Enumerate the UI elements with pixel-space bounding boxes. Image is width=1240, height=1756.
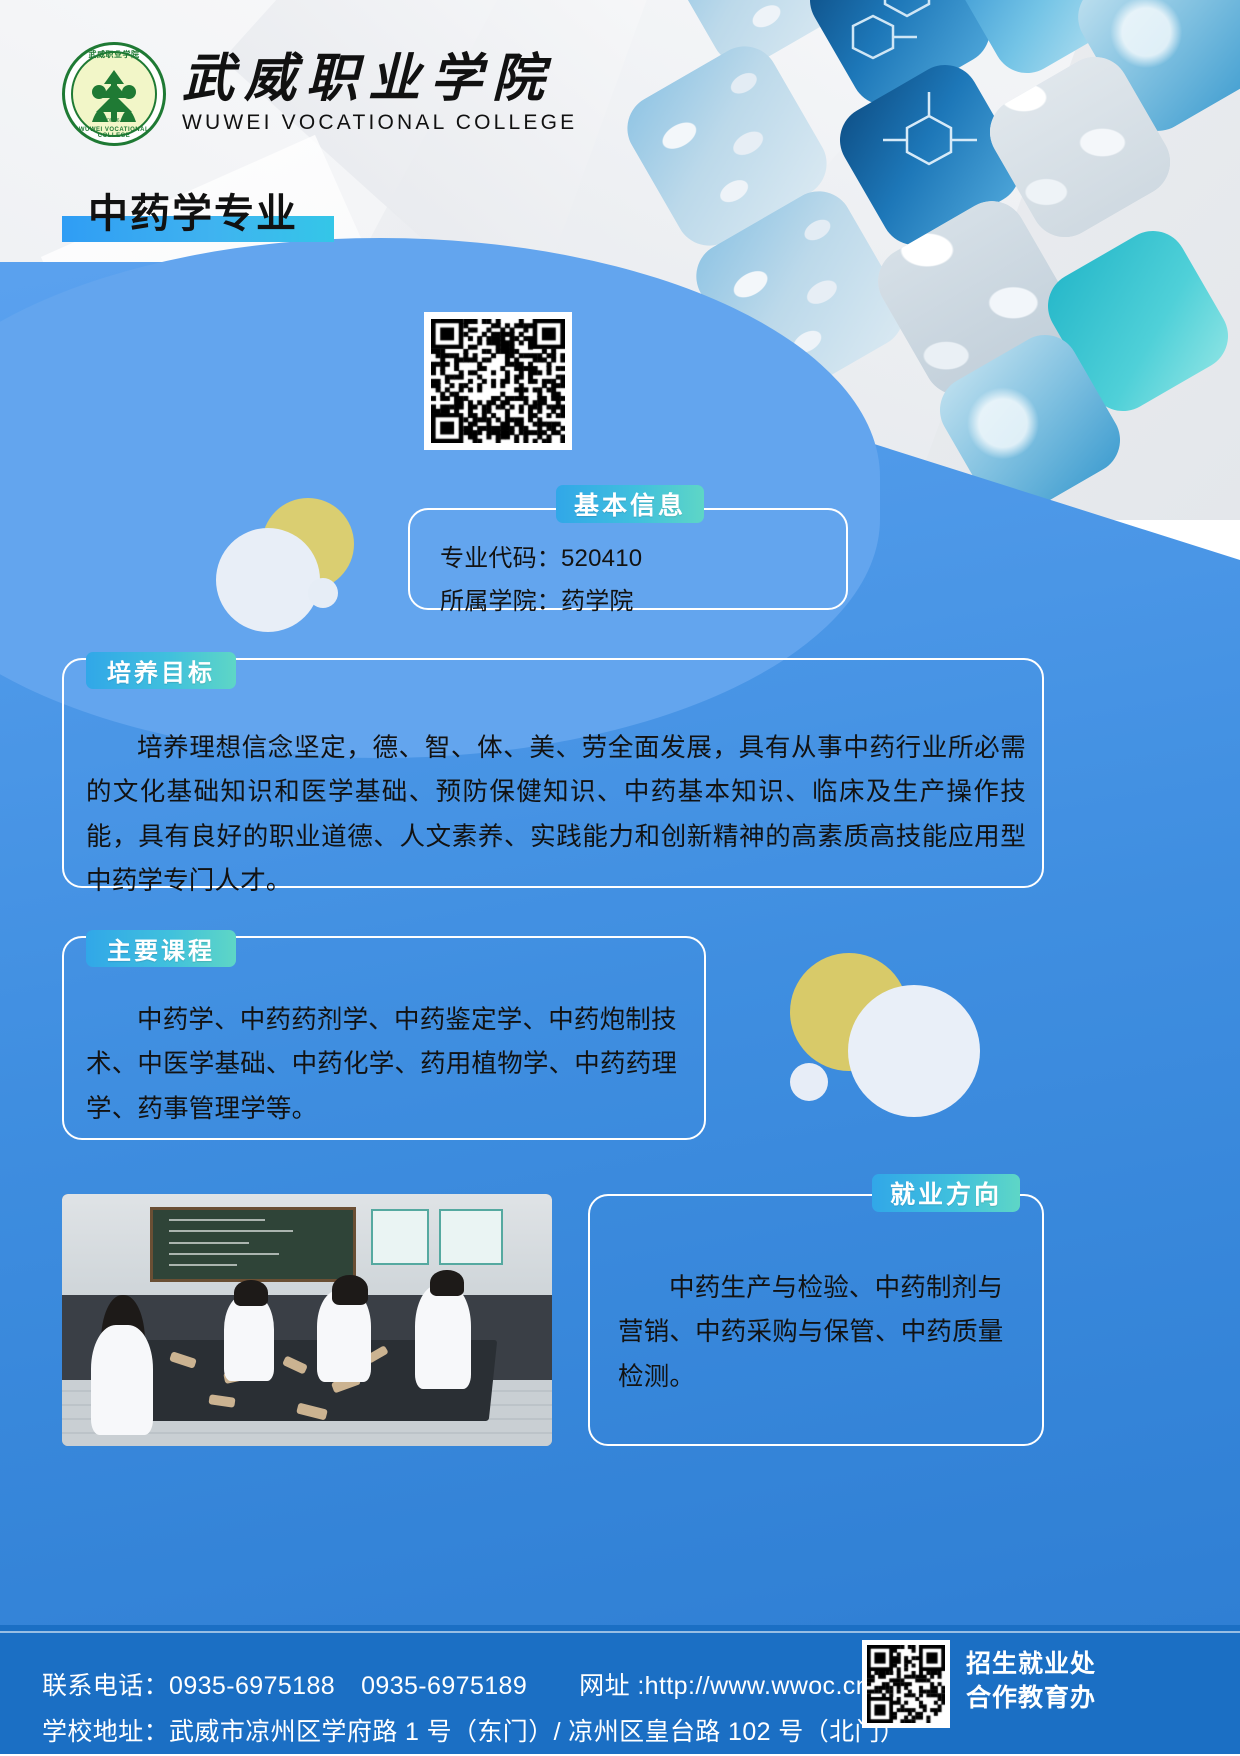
lab-classroom-photo <box>62 1194 552 1446</box>
footer-address-line: 学校地址：武威市凉州区学府路 1 号（东门）/ 凉州区皇台路 102 号（北门） <box>42 1709 905 1755</box>
crest-year: 2003.6.6 <box>62 118 166 124</box>
qr-code-icon-footer[interactable] <box>862 1640 950 1728</box>
basic-info-line-code: 专业代码：520410 <box>440 538 840 581</box>
footer-phone-1: 0935-6975188 <box>169 1672 335 1700</box>
crest-tree-glyph <box>86 62 142 126</box>
decor-circle-white-1b <box>308 578 338 608</box>
footer-contact-block: 联系电话：0935-69751880935-6975189网址 :http://… <box>42 1663 905 1756</box>
footer-divider <box>0 1631 1240 1633</box>
page-title: 中药学专业 <box>88 181 298 239</box>
training-goal-text: 培养理想信念坚定，德、智、体、美、劳全面发展，具有从事中药行业所必需的文化基础知… <box>86 726 1026 903</box>
employment-text: 中药生产与检验、中药制剂与营销、中药采购与保管、中药质量检测。 <box>618 1266 1018 1399</box>
footer-office-line-2: 合作教育办 <box>966 1682 1096 1716</box>
footer-office-block: 招生就业处 合作教育办 <box>966 1648 1096 1716</box>
training-goal-badge: 培养目标 <box>86 652 236 689</box>
footer-address-value: 武威市凉州区学府路 1 号（东门）/ 凉州区皇台路 102 号（北门） <box>169 1718 905 1746</box>
footer-office-line-1: 招生就业处 <box>966 1648 1096 1682</box>
basic-info-text: 专业代码：520410 所属学院：药学院 <box>440 538 840 623</box>
decor-circle-white-1 <box>216 528 320 632</box>
qr-code-icon-top[interactable] <box>424 312 572 450</box>
college-name-en: WUWEI VOCATIONAL COLLEGE <box>182 111 577 135</box>
footer-phone-line: 联系电话：0935-69751880935-6975189网址 :http://… <box>42 1663 905 1709</box>
footer-phone-label: 联系电话： <box>42 1672 169 1700</box>
main-courses-badge: 主要课程 <box>86 930 236 967</box>
footer-website-url[interactable]: http://www.wwoc.cn <box>645 1672 870 1700</box>
main-courses-text: 中药学、中药药剂学、中药鉴定学、中药炮制技术、中医学基础、中药化学、药用植物学、… <box>86 998 690 1131</box>
decor-circle-white-2 <box>848 985 980 1117</box>
basic-info-line-school: 所属学院：药学院 <box>440 581 840 624</box>
employment-badge: 就业方向 <box>872 1174 1020 1212</box>
footer-website-label: 网址 : <box>579 1672 645 1700</box>
college-crest-icon: 武威职业学院 2003.6.6 WUWEI VOCATIONAL COLLEGE <box>62 42 166 146</box>
college-logo-row: 武威职业学院 2003.6.6 WUWEI VOCATIONAL COLLEGE… <box>62 42 577 146</box>
decor-circle-white-2b <box>790 1063 828 1101</box>
footer-phone-2: 0935-6975189 <box>361 1672 527 1700</box>
college-name-cn: 武威职业学院 <box>182 53 577 108</box>
footer-address-label: 学校地址： <box>42 1718 169 1746</box>
basic-info-badge: 基本信息 <box>556 485 704 523</box>
crest-arc-bottom: WUWEI VOCATIONAL COLLEGE <box>62 127 166 139</box>
college-wordmark: 武威职业学院 WUWEI VOCATIONAL COLLEGE <box>182 53 577 136</box>
crest-arc-top: 武威职业学院 <box>62 49 166 60</box>
